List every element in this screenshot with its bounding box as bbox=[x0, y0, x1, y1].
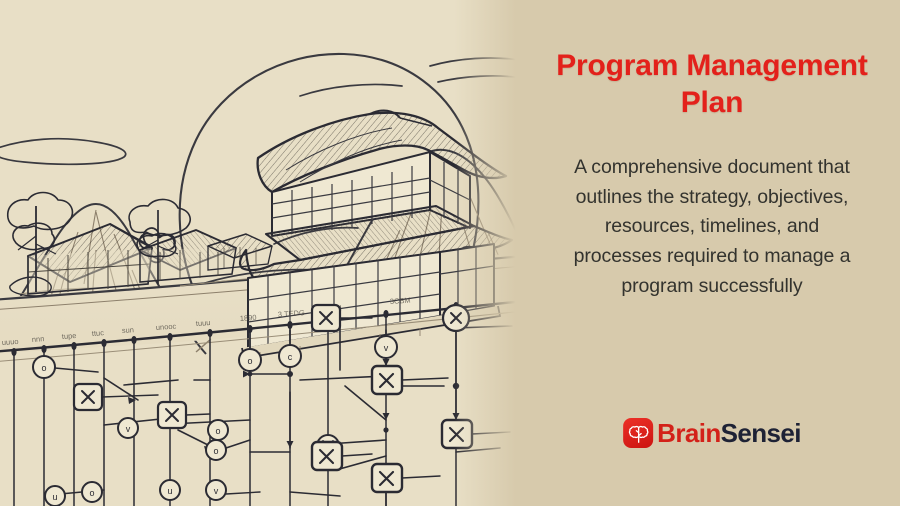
brand-logo: BrainSensei bbox=[623, 418, 801, 448]
circle-node: o bbox=[239, 349, 261, 371]
square-node bbox=[74, 384, 102, 410]
circle-node: u bbox=[45, 486, 65, 506]
slide-root: uuuo nnn tupe ttuc sun unooc tuuu 1890 3… bbox=[0, 0, 900, 506]
svg-text:nnn: nnn bbox=[32, 334, 45, 344]
landscape-sketch: uuuo nnn tupe ttuc sun unooc tuuu 1890 3… bbox=[0, 0, 524, 506]
svg-text:tupe: tupe bbox=[62, 331, 77, 341]
svg-text:3CBM: 3CBM bbox=[390, 296, 411, 306]
square-node bbox=[158, 402, 186, 428]
square-node bbox=[312, 305, 340, 331]
svg-text:1890: 1890 bbox=[240, 313, 257, 323]
circle-node: v bbox=[206, 480, 226, 500]
svg-text:o: o bbox=[41, 363, 46, 373]
svg-text:v: v bbox=[126, 424, 131, 434]
brand-wordmark: BrainSensei bbox=[657, 420, 801, 446]
square-node bbox=[372, 366, 402, 394]
circle-node: v bbox=[118, 418, 138, 438]
svg-text:u: u bbox=[52, 492, 57, 502]
circle-node: o bbox=[206, 440, 226, 460]
square-node bbox=[312, 442, 342, 470]
svg-text:sun: sun bbox=[122, 325, 135, 335]
circle-node: o bbox=[82, 482, 102, 502]
circle-node: v bbox=[375, 336, 397, 358]
circle-node: u bbox=[160, 480, 180, 500]
brand-word-brain: Brain bbox=[657, 418, 720, 448]
circle-node: o bbox=[208, 420, 228, 440]
circle-node bbox=[443, 305, 469, 331]
square-node bbox=[442, 420, 472, 448]
brain-icon bbox=[623, 418, 653, 448]
brand-word-sensei: Sensei bbox=[721, 418, 801, 448]
svg-text:o: o bbox=[89, 488, 94, 498]
page-title: Program Management Plan bbox=[536, 48, 888, 121]
svg-text:uuuo: uuuo bbox=[2, 337, 19, 347]
svg-text:v: v bbox=[384, 343, 389, 353]
svg-text:o: o bbox=[247, 356, 252, 366]
svg-text:tuuu: tuuu bbox=[196, 318, 211, 328]
svg-text:u: u bbox=[167, 486, 172, 496]
svg-text:unooc: unooc bbox=[156, 322, 177, 332]
illustration-panel: uuuo nnn tupe ttuc sun unooc tuuu 1890 3… bbox=[0, 0, 524, 506]
circle-node: o bbox=[33, 356, 55, 378]
square-node bbox=[372, 464, 402, 492]
page-subtitle: A comprehensive document that outlines t… bbox=[562, 153, 862, 301]
svg-text:v: v bbox=[214, 486, 219, 496]
svg-text:3 TEDG: 3 TEDG bbox=[278, 308, 306, 319]
svg-text:o: o bbox=[213, 446, 218, 456]
circle-node: c bbox=[279, 345, 301, 367]
svg-text:c: c bbox=[288, 352, 293, 362]
svg-text:ttuc: ttuc bbox=[92, 328, 105, 338]
svg-text:o: o bbox=[215, 426, 220, 436]
text-panel: Program Management Plan A comprehensive … bbox=[524, 0, 900, 506]
